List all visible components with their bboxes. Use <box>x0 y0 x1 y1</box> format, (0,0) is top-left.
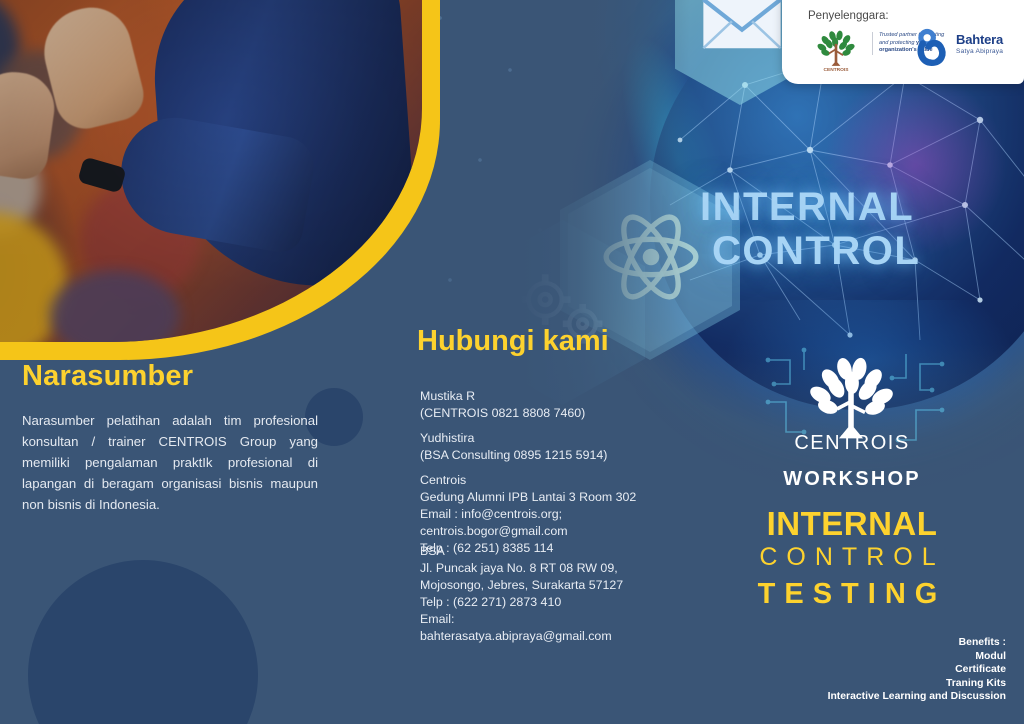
centrois-org-name: Centrois <box>420 472 636 489</box>
benefits-list: Benefits : Modul Certificate Traning Kit… <box>828 636 1006 704</box>
sponsor-label: Penyelenggara: <box>808 10 889 22</box>
decorative-circle-large <box>28 560 258 724</box>
hexagon-tile-gears <box>520 220 645 405</box>
benefit-item: Interactive Learning and Discussion <box>828 690 1006 704</box>
poster-root: INTERNAL CONTROL Narasumber Narasumber p… <box>0 0 1024 724</box>
contact-person-2-name: Yudhistira <box>420 430 607 447</box>
hero-title: INTERNAL CONTROL <box>700 185 920 273</box>
bsa-email-label: Email: <box>420 611 623 628</box>
workshop-title-control: CONTROL <box>712 543 992 572</box>
speaker-audience-photo <box>0 0 422 342</box>
contact-person-2-detail: (BSA Consulting 0895 1215 5914) <box>420 447 607 464</box>
photo-vignette <box>0 0 422 342</box>
workshop-kicker: WORKSHOP <box>742 468 962 491</box>
atom-icon <box>592 198 710 316</box>
bsa-email[interactable]: bahterasatya.abipraya@gmail.com <box>420 628 623 645</box>
bahtera-logo-icon <box>910 26 956 70</box>
contact-person-2: Yudhistira (BSA Consulting 0895 1215 591… <box>420 430 607 464</box>
bahtera-wordmark: Bahtera Satya Abipraya <box>956 32 1003 55</box>
centrois-address: Gedung Alumni IPB Lantai 3 Room 302 <box>420 489 636 506</box>
centrois-logo-icon: CENTROIS <box>808 28 864 72</box>
photo-yellow-swoosh-frame <box>0 0 440 360</box>
benefit-item: Certificate <box>828 663 1006 677</box>
contact-person-1: Mustika R (CENTROIS 0821 8808 7460) <box>420 388 585 422</box>
contact-person-1-detail: (CENTROIS 0821 8808 7460) <box>420 405 585 422</box>
contact-heading: Hubungi kami <box>417 325 609 358</box>
magenta-glow <box>820 70 1010 260</box>
benefit-item: Traning Kits <box>828 677 1006 691</box>
workshop-title-internal: INTERNAL <box>712 505 992 543</box>
centrois-email-1[interactable]: Email : info@centrois.org; <box>420 506 636 523</box>
benefits-heading: Benefits : <box>828 636 1006 650</box>
centrois-wordmark: CENTROIS <box>742 432 962 455</box>
centrois-email-2[interactable]: centrois.bogor@gmail.com <box>420 523 636 540</box>
bahtera-subtitle: Satya Abipraya <box>956 48 1003 55</box>
hero-title-line-2: CONTROL <box>712 229 920 273</box>
contact-org-bsa: BSA Jl. Puncak jaya No. 8 RT 08 RW 09, M… <box>420 543 623 645</box>
hero-title-line-1: INTERNAL <box>700 185 920 229</box>
envelope-icon <box>700 0 784 56</box>
bsa-org-name: BSA <box>420 543 623 560</box>
bsa-address-2: Mojosongo, Jebres, Surakarta 57127 <box>420 577 623 594</box>
bsa-address-1: Jl. Puncak jaya No. 8 RT 08 RW 09, <box>420 560 623 577</box>
bsa-phone: Telp : (622 271) 2873 410 <box>420 594 623 611</box>
workshop-title-testing: TESTING <box>712 578 992 611</box>
svg-text:CENTROIS: CENTROIS <box>824 67 850 72</box>
bahtera-name: Bahtera <box>956 32 1003 47</box>
sponsor-card: Penyelenggara: CENTROIS Trusted partner … <box>782 0 1024 84</box>
narasumber-heading: Narasumber <box>22 360 193 393</box>
contact-person-1-name: Mustika R <box>420 388 585 405</box>
narasumber-body-text: Narasumber pelatihan adalah tim profesio… <box>22 410 318 515</box>
benefit-item: Modul <box>828 650 1006 664</box>
